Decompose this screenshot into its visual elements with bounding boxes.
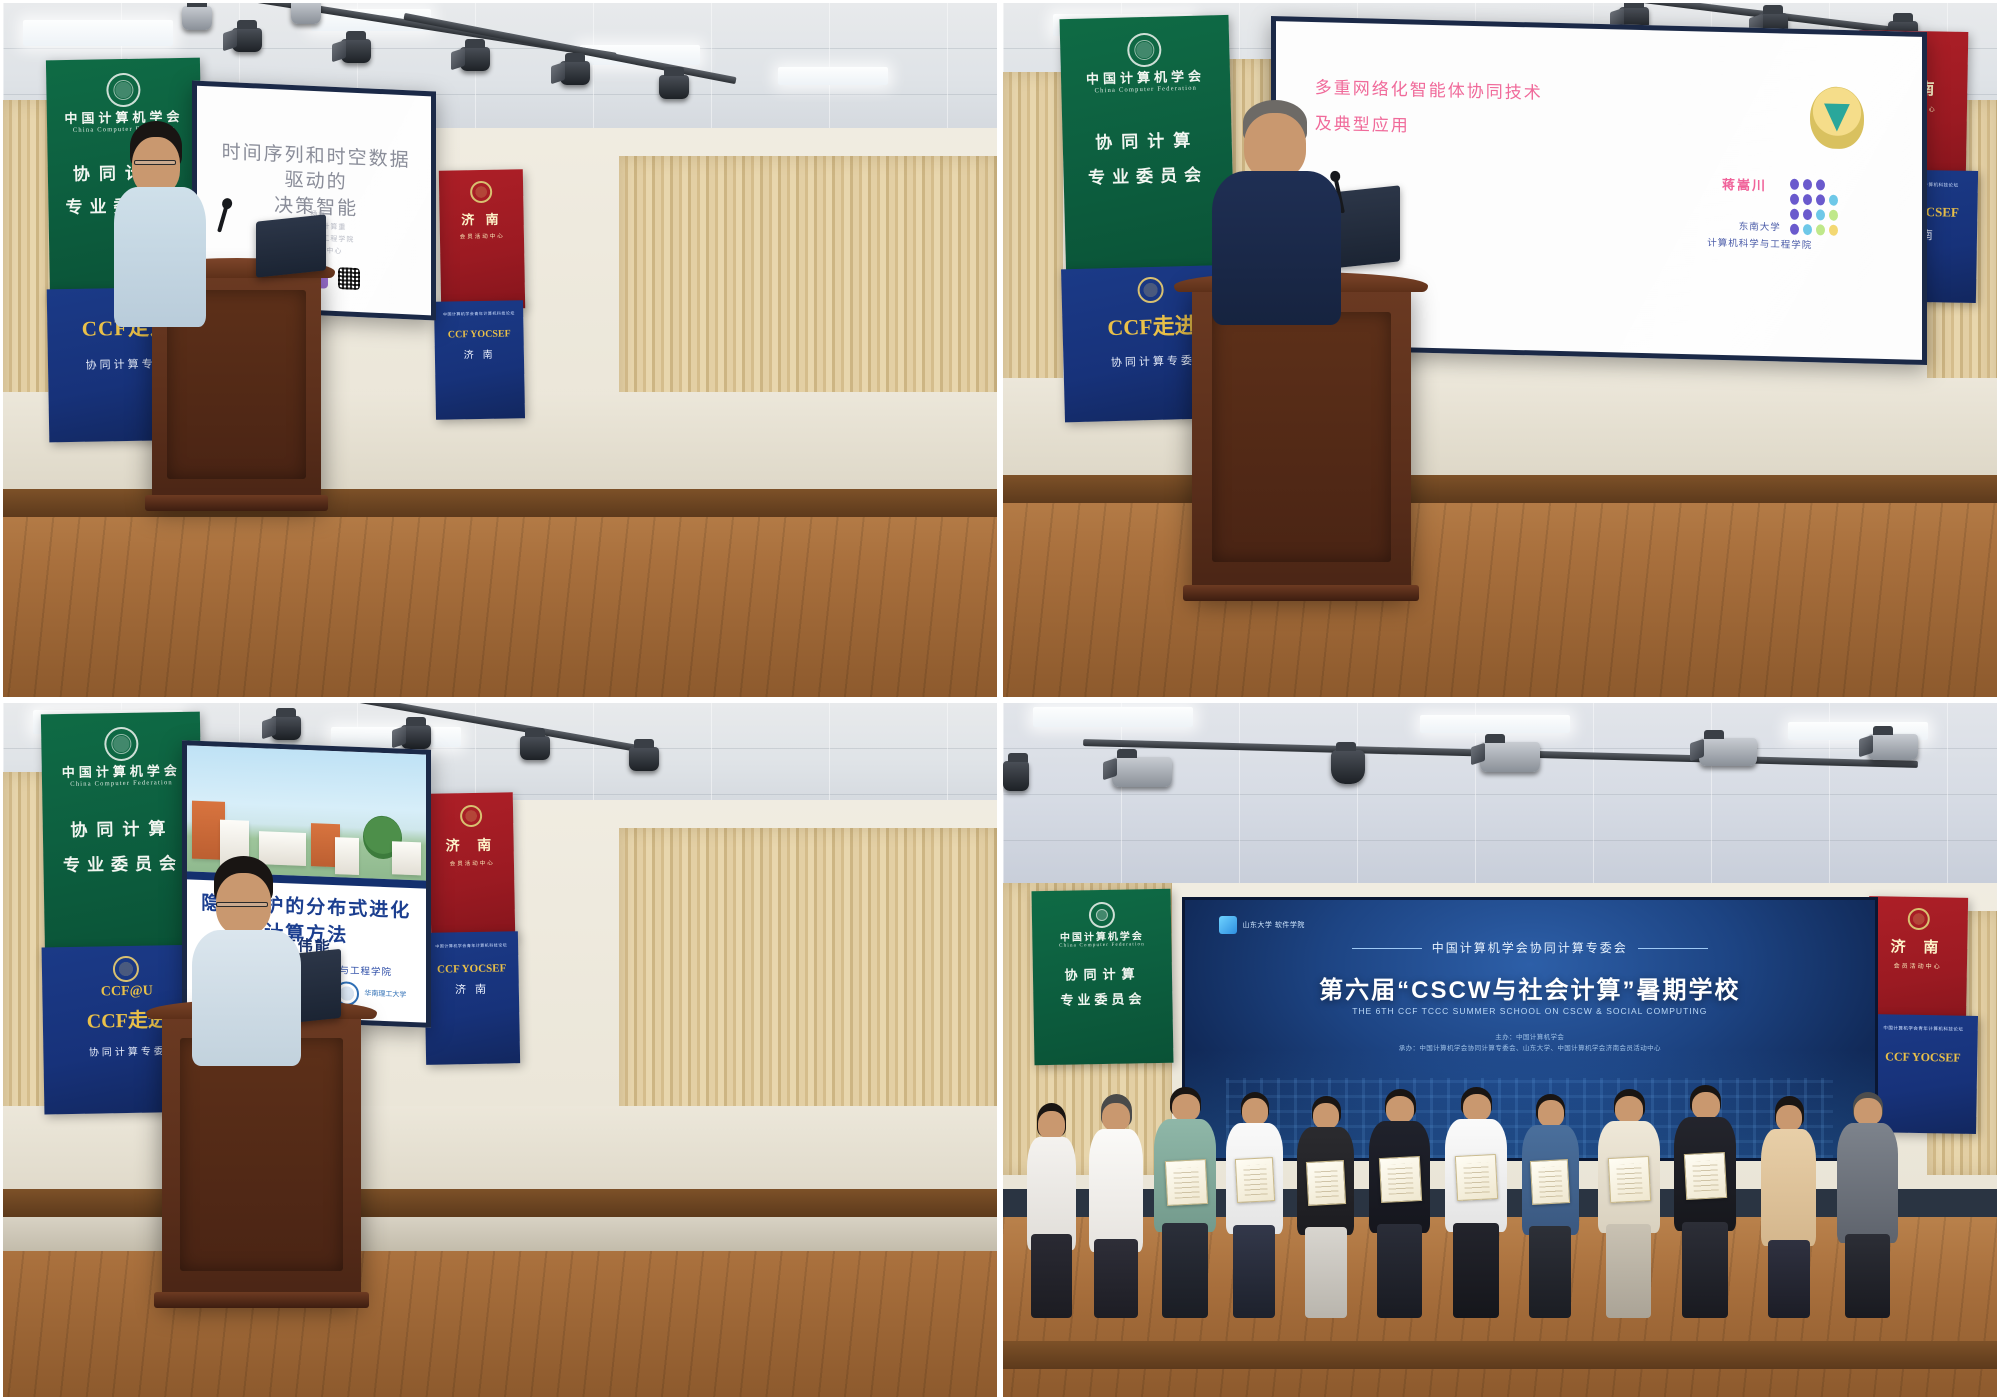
scut-logo-text: 华南理工大学: [364, 989, 406, 1000]
stage-spotlight: [291, 0, 321, 24]
banner-yocsef-label: CCF YOCSEF: [435, 329, 525, 342]
rule-right: [1638, 948, 1708, 949]
person-legs: [1845, 1234, 1890, 1318]
panel-talk-timeseries: 中国计算机学会 China Computer Federation 协同计算 专…: [0, 0, 1000, 700]
glasses-icon: [134, 160, 176, 165]
stage-spotlight: [182, 6, 212, 30]
stage-front-edge: [3, 1189, 997, 1217]
ceiling-light: [1033, 707, 1193, 727]
group-person: [1295, 1096, 1357, 1314]
person-legs: [1529, 1226, 1571, 1318]
banner-yocsef-label: CCF YOCSEF: [425, 962, 520, 976]
ceiling-light: [1420, 715, 1570, 733]
campus-building: [335, 836, 359, 875]
led-subtitle-en: THE 6TH CCF TCCC SUMMER SCHOOL ON CSCW &…: [1185, 1006, 1875, 1016]
podium: [1192, 281, 1411, 593]
seu-emblem-icon: [1810, 86, 1864, 149]
person-head: [132, 137, 180, 195]
person-torso: [114, 187, 205, 327]
certificate: [1235, 1157, 1276, 1203]
stage-front-edge: [1003, 475, 1997, 503]
slide-title: 多重网络化智能体协同技术 及典型应用: [1315, 70, 1754, 152]
banner-jinan-sub: 会员活动中心: [440, 231, 525, 240]
banner-jinan-cn: 济 南: [440, 208, 525, 228]
person-torso: [1761, 1129, 1816, 1246]
banner-ccf-tccc: 中国计算机学会 China Computer Federation 协同计算 专…: [1059, 15, 1235, 290]
ceiling-light: [23, 20, 173, 46]
person-torso: [1089, 1129, 1144, 1252]
panel-talk-multinetwork-agents: 中国计算机学会 China Computer Federation 协同计算 专…: [1000, 0, 2000, 700]
dot: [1803, 209, 1812, 220]
person-head: [1244, 113, 1306, 180]
panel-talk-privacy-evolutionary: 中国计算机学会 China Computer Federation 协同计算 专…: [0, 700, 1000, 1400]
person-legs: [1768, 1240, 1810, 1318]
host-university-logo: 山东大学 软件学院: [1219, 916, 1304, 934]
dot: [1790, 194, 1799, 205]
group-person: [1152, 1087, 1219, 1314]
banner-jinan-cn: 济 南: [1868, 935, 1968, 958]
podium-base: [145, 495, 327, 511]
organizer-text: 中国计算机学会协同计算专委会: [1432, 941, 1628, 955]
person-torso: [1212, 171, 1341, 325]
banner-committee-line2: 专业委员会: [1063, 160, 1233, 189]
group-person: [1223, 1092, 1285, 1314]
wood-slat-wall: [619, 828, 997, 1133]
group-person: [1085, 1094, 1147, 1314]
banner-yocsef-label: CCF YOCSEF: [1868, 1049, 1978, 1066]
person-legs: [1377, 1224, 1422, 1318]
dot: [1829, 195, 1838, 206]
stage-spotlight: [659, 75, 689, 99]
banner-jinan-center: 济 南 会员活动中心: [429, 792, 516, 939]
person-head: [1242, 1098, 1268, 1125]
person-head: [1538, 1100, 1564, 1126]
qr-code-icon: [338, 268, 360, 291]
speaker-person: [112, 121, 211, 315]
banner-committee-line1: 协同计算: [1033, 963, 1172, 984]
stage-front-edge: [1003, 1341, 1997, 1369]
banner-yocsef-smallprint: 中国计算机学会青年计算机科技论坛: [435, 311, 525, 319]
certificate: [1306, 1160, 1347, 1205]
banner-ccf-tccc: 中国计算机学会 China Computer Federation 协同计算 专…: [41, 712, 204, 965]
dot: [1790, 209, 1799, 220]
certificate: [1455, 1154, 1499, 1201]
group-person: [1023, 1103, 1080, 1314]
stage-spotlight: [1868, 734, 1918, 760]
rule-left: [1352, 948, 1422, 949]
podium-body: [180, 1038, 343, 1271]
banner-yocsef-jinan: 中国计算机学会青年计算机科技论坛 CCF YOCSEF 济 南: [424, 931, 521, 1064]
group-person: [1758, 1096, 1820, 1314]
ccf-seal-icon: [1088, 902, 1114, 928]
credits-line2: 承办：中国计算机学会协同计算专委会、山东大学、中国计算机学会济南会员活动中心: [1185, 1043, 1875, 1055]
dot: [1803, 194, 1812, 205]
slide-speaker-name: 蒋嵩川: [1722, 174, 1767, 194]
jinan-seal-icon: [471, 180, 493, 202]
certificate: [1379, 1156, 1423, 1203]
dot: [1829, 210, 1838, 221]
jinan-seal-icon: [1907, 908, 1929, 930]
dot: [1816, 180, 1825, 191]
led-main-title: 第六届“CSCW与社会计算”暑期学校: [1185, 970, 1875, 1005]
ceiling-light: [778, 67, 888, 85]
glasses-icon: [216, 902, 268, 907]
sdu-mark-icon: [1219, 916, 1237, 934]
person-head: [1692, 1092, 1720, 1119]
banner-jinan-cn: 济 南: [430, 834, 515, 855]
certificate: [1608, 1156, 1652, 1203]
group-person: [1672, 1085, 1739, 1314]
group-person: [1519, 1094, 1581, 1314]
tccc-seal-icon: [1137, 276, 1164, 303]
campus-building: [392, 841, 421, 875]
banner-jinan-sub: 会员活动中心: [1868, 960, 1968, 971]
banner-jinan-center: 济 南 会员活动中心: [1867, 896, 1969, 1030]
stage-skirt: [3, 1217, 997, 1252]
stage-spotlight: [1480, 742, 1540, 772]
certificate: [1165, 1158, 1209, 1205]
panel-group-photo-certificates: 中国计算机学会 China Computer Federation 协同计算 专…: [1000, 700, 2000, 1400]
person-legs: [1453, 1223, 1498, 1318]
podium-base: [1183, 585, 1419, 601]
dot: [1790, 179, 1799, 190]
led-credits: 主办：中国计算机学会 承办：中国计算机学会协同计算专委会、山东大学、中国计算机学…: [1185, 1032, 1875, 1055]
stage-spotlight: [460, 47, 490, 71]
ccf-seal-icon: [103, 727, 138, 762]
stage-spotlight: [1112, 757, 1172, 787]
stage-spotlight: [520, 736, 550, 760]
person-head: [1172, 1094, 1200, 1121]
group-person: [1443, 1087, 1510, 1314]
person-torso: [192, 930, 301, 1066]
group-person: [1366, 1089, 1433, 1313]
dot: [1803, 179, 1812, 190]
person-legs: [1682, 1222, 1727, 1318]
person-head: [1854, 1098, 1882, 1125]
slide-aff-line2: 计算机科学与工程学院: [1708, 235, 1813, 254]
banner-yocsef-city: 济 南: [435, 346, 525, 363]
stage-spotlight: [232, 28, 262, 52]
banner-jinan-center: 济 南 会员活动中心: [439, 169, 526, 309]
person-legs: [1031, 1234, 1072, 1318]
dot: [1816, 195, 1825, 206]
banner-yocsef-city: 济 南: [425, 980, 520, 998]
dot: [1816, 210, 1825, 221]
stage-spotlight: [401, 725, 431, 749]
person-legs: [1606, 1224, 1651, 1318]
laptop: [256, 214, 326, 277]
banner-ccf-tccc: 中国计算机学会 China Computer Federation 协同计算 专…: [1031, 889, 1173, 1065]
banner-org-en: China Computer Federation: [42, 779, 201, 789]
host-logo-text: 山东大学 软件学院: [1242, 920, 1304, 930]
banner-yocsef-smallprint: 中国计算机学会青年计算机科技论坛: [424, 942, 519, 950]
stage-spotlight: [1331, 750, 1365, 784]
stage-spotlight: [629, 747, 659, 771]
person-head: [1102, 1103, 1129, 1132]
stage-floor: [3, 489, 997, 697]
speaker-person: [1212, 100, 1341, 308]
ccf-seal-icon: [1127, 32, 1162, 67]
person-legs: [1233, 1225, 1275, 1318]
person-torso: [1837, 1123, 1898, 1243]
person-legs: [1162, 1223, 1207, 1318]
certificate: [1530, 1159, 1571, 1205]
photo-collage: 中国计算机学会 China Computer Federation 协同计算 专…: [0, 0, 2000, 1400]
certificate: [1684, 1152, 1728, 1200]
stage-spotlight: [1699, 738, 1757, 766]
slide-title-line1: 时间序列和时空数据驱动的: [216, 139, 417, 199]
ccf-seal-icon: [106, 72, 141, 107]
group-photo-people-row: [1023, 1085, 1977, 1314]
stage-spotlight: [1003, 761, 1029, 791]
person-head: [1313, 1103, 1339, 1129]
credits-line1: 主办：中国计算机学会: [1185, 1032, 1875, 1044]
banner-yocsef-smallprint: 中国计算机学会青年计算机科技论坛: [1869, 1025, 1978, 1033]
slide-affiliation: 东南大学 计算机科学与工程学院: [1708, 219, 1813, 254]
podium-base: [154, 1292, 369, 1308]
banner-committee-line2: 专业委员会: [43, 849, 202, 877]
dot: [1829, 225, 1838, 236]
banner-committee-line1: 协同计算: [42, 814, 201, 842]
person-head: [1038, 1111, 1064, 1138]
led-organizer-line: 中国计算机学会协同计算专委会: [1185, 939, 1875, 956]
person-head: [1463, 1094, 1491, 1121]
jinan-seal-icon: [461, 805, 483, 827]
ccf-u-seal-icon: [113, 956, 139, 982]
banner-org-en: China Computer Federation: [1032, 942, 1171, 949]
ceiling: [1003, 703, 1997, 897]
stage-spotlight: [271, 716, 301, 740]
banner-yocsef-jinan: 中国计算机学会青年计算机科技论坛 CCF YOCSEF 济 南: [434, 301, 525, 421]
speaker-person: [192, 856, 301, 1050]
person-head: [1615, 1096, 1643, 1123]
stage-spotlight: [560, 61, 590, 85]
podium-body: [1212, 312, 1391, 562]
person-head: [1776, 1105, 1802, 1131]
person-legs: [1094, 1239, 1139, 1318]
stage-spotlight: [341, 39, 371, 63]
group-person: [1834, 1092, 1901, 1314]
banner-committee-line2: 专业委员会: [1033, 988, 1172, 1009]
banner-committee-line1: 协同计算: [1062, 125, 1232, 154]
person-legs: [1305, 1227, 1347, 1318]
person-head: [1386, 1096, 1414, 1123]
banner-jinan-sub: 会员活动中心: [430, 858, 515, 867]
stage-floor: [1003, 475, 1997, 697]
dot: [1816, 225, 1825, 236]
scut-logo-cn: 华南理工大学: [364, 990, 406, 999]
group-person: [1595, 1089, 1662, 1313]
